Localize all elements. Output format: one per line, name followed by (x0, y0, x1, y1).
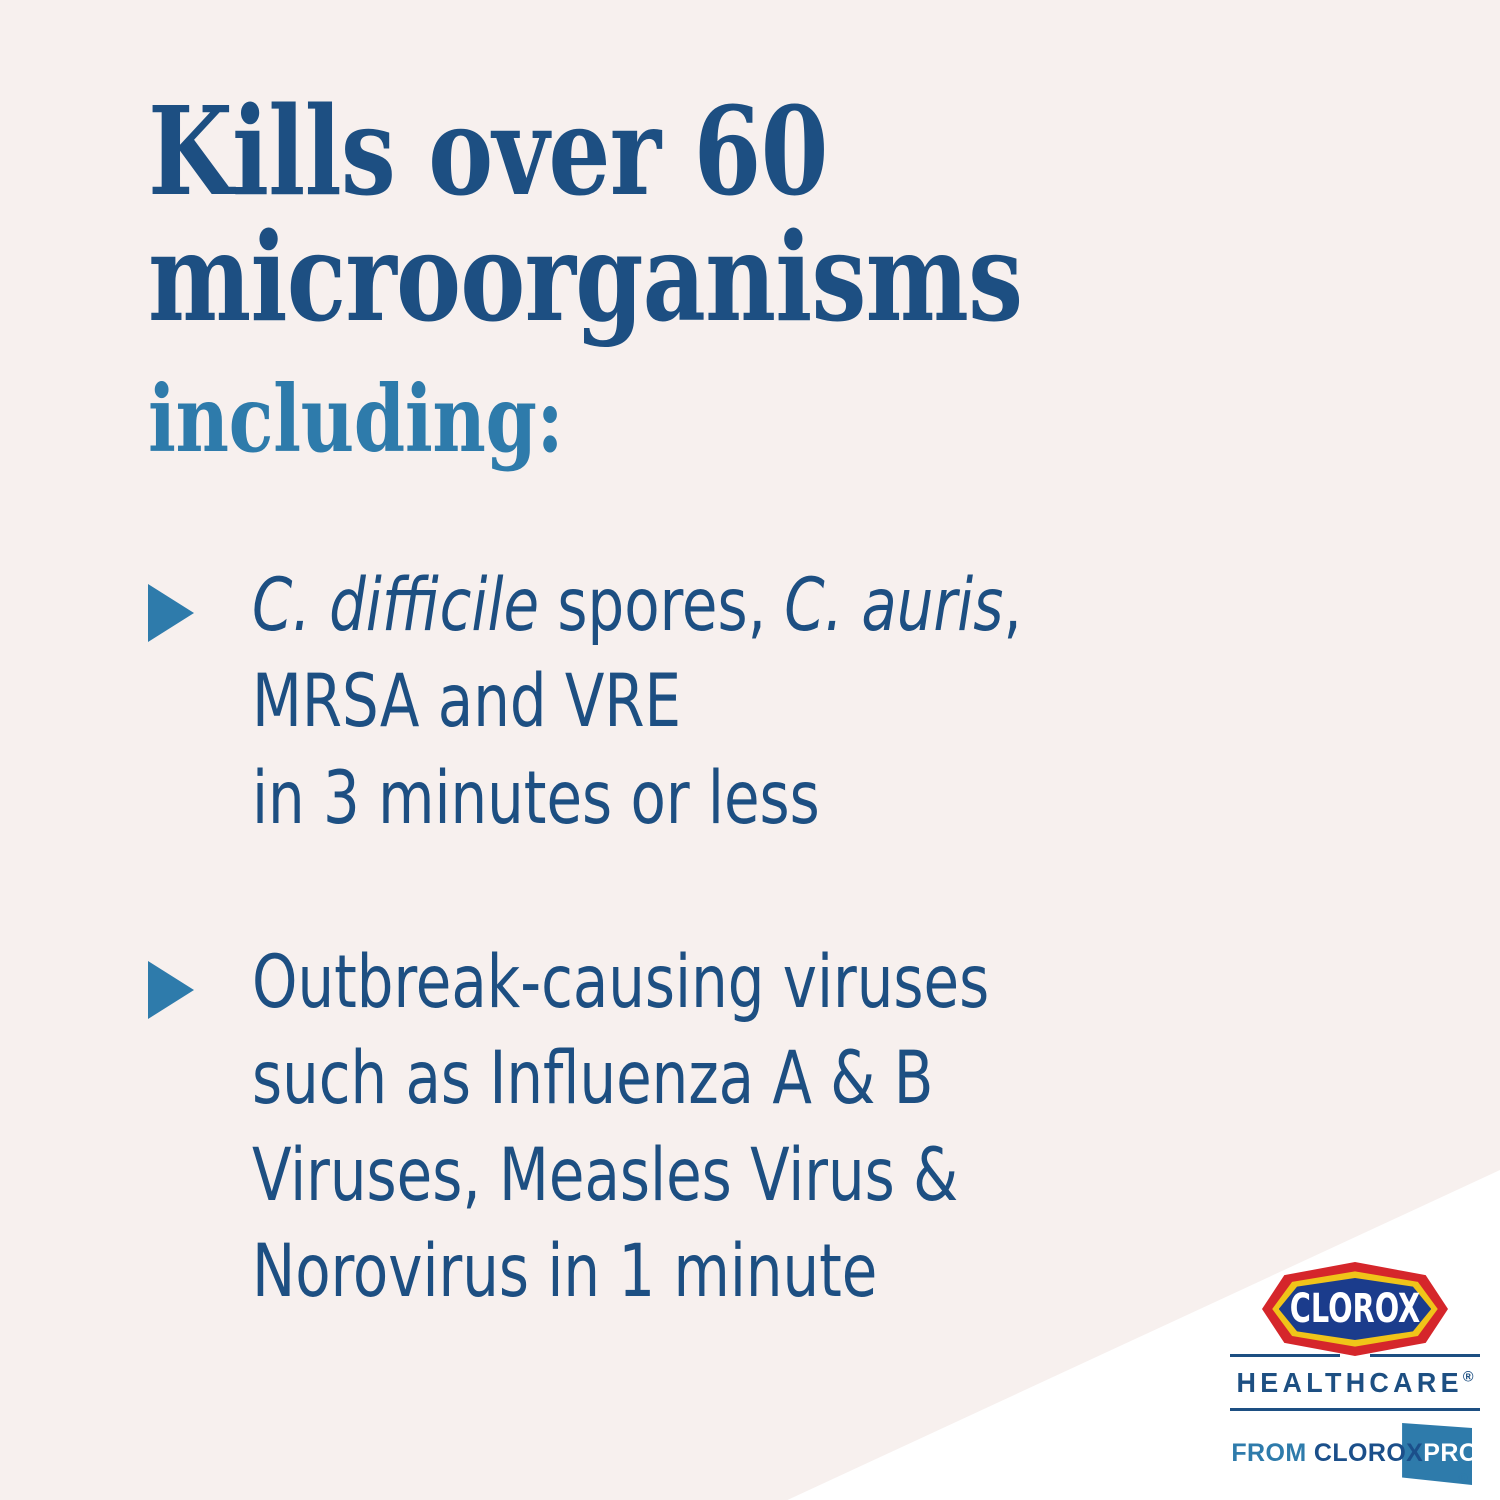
headline-block: Kills over 60 microorganisms including: (148, 92, 1348, 465)
list-item-line: such as Influenza A & B (252, 1031, 1269, 1127)
list-item-line: in 3 minutes or less (252, 751, 1269, 847)
headline-subhead: including: (148, 373, 1108, 465)
cloroxpro-brand: CLOROX (1314, 1439, 1423, 1467)
list-item: C. difficile spores, C. auris, MRSA and … (148, 558, 1408, 847)
clorox-wordmark: CLOROX (1281, 1289, 1430, 1329)
organism-suffix: spores, (539, 563, 784, 648)
headline-line-1: Kills over 60 (148, 92, 1108, 212)
organism-name-2: C. auris (784, 563, 1003, 648)
healthcare-rule-bottom (1230, 1408, 1480, 1411)
healthcare-rule-top (1230, 1354, 1480, 1357)
list-item-line: MRSA and VRE (252, 654, 1269, 750)
list-item-line: Viruses, Measles Virus & (252, 1128, 1269, 1224)
list-item-line: Outbreak-causing viruses (252, 935, 1269, 1031)
registered-mark: ® (1463, 1369, 1474, 1386)
triangle-right-icon (148, 584, 194, 642)
registered-mark-pro: ® (1458, 1471, 1468, 1484)
clorox-healthcare-logo: CLOROX HEALTHCARE® FROM CLOROXPRO ® (1230, 1262, 1480, 1487)
triangle-right-icon (148, 961, 194, 1019)
poster-canvas: Kills over 60 microorganisms including: … (0, 0, 1500, 1500)
healthcare-word: HEALTHCARE (1237, 1367, 1463, 1398)
list-item: Outbreak-causing viruses such as Influen… (148, 935, 1408, 1320)
list-item-line: Norovirus in 1 minute (252, 1224, 1269, 1320)
benefit-bullet-list: C. difficile spores, C. auris, MRSA and … (148, 558, 1408, 1321)
cloroxpro-pro: PRO (1423, 1439, 1478, 1467)
list-item-text: Outbreak-causing viruses such as Influen… (252, 935, 1269, 1320)
rule-segment-right (1370, 1354, 1480, 1357)
clorox-diamond-badge-icon: CLOROX (1262, 1262, 1448, 1356)
from-label: FROM (1231, 1439, 1314, 1467)
list-item-line: C. difficile spores, C. auris, (252, 558, 1269, 654)
headline-line-2: microorganisms (148, 218, 1108, 338)
cloroxpro-endorsement: FROM CLOROXPRO ® (1230, 1429, 1480, 1487)
healthcare-text: HEALTHCARE® (1235, 1369, 1475, 1397)
organism-name: C. difficile (252, 563, 539, 648)
organism-comma: , (1003, 563, 1021, 648)
rule-segment-left (1230, 1354, 1340, 1357)
list-item-text: C. difficile spores, C. auris, MRSA and … (252, 558, 1269, 847)
cloroxpro-text: FROM CLOROXPRO (1230, 1441, 1480, 1466)
healthcare-band: HEALTHCARE® (1230, 1354, 1480, 1411)
